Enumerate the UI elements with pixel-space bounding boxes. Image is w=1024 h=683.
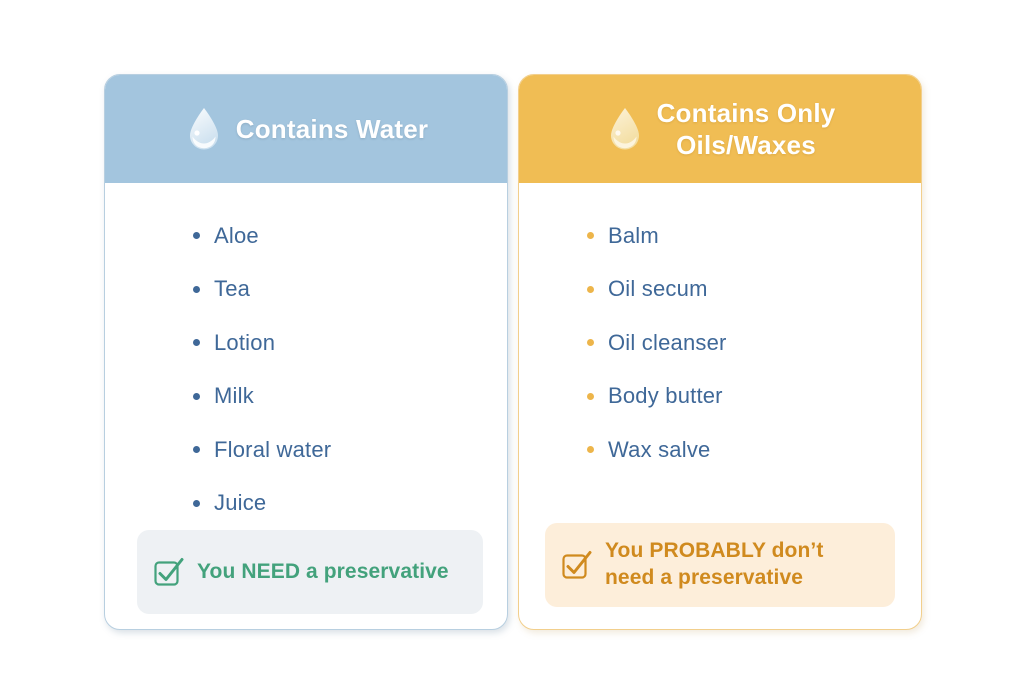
- list-item-label: Tea: [214, 276, 250, 302]
- list-item: Juice: [193, 477, 507, 531]
- card-title-contains-water: Contains Water: [236, 113, 429, 146]
- bullet-icon: [193, 286, 200, 293]
- bullet-icon: [193, 232, 200, 239]
- oil-droplet-icon: [605, 106, 645, 152]
- list-item: Wax salve: [587, 423, 921, 477]
- callout-text: You PROBABLY don’tneed a preservative: [605, 538, 823, 592]
- card-title-contains-only-oils-waxes: Contains OnlyOils/Waxes: [657, 97, 836, 162]
- list-item-label: Wax salve: [608, 437, 710, 463]
- item-list-contains-only-oils-waxes: Balm Oil secum Oil cleanser Body butter …: [519, 209, 921, 523]
- list-item: Tea: [193, 263, 507, 317]
- bullet-icon: [193, 393, 200, 400]
- list-item-label: Oil secum: [608, 276, 708, 302]
- list-item-label: Aloe: [214, 223, 259, 249]
- list-item: Lotion: [193, 316, 507, 370]
- card-title-line-2: Oils/Waxes: [676, 130, 816, 160]
- list-item: Body butter: [587, 370, 921, 424]
- list-item: Aloe: [193, 209, 507, 263]
- list-item: Oil secum: [587, 263, 921, 317]
- bullet-icon: [587, 393, 594, 400]
- checkbox-checked-icon: [561, 549, 593, 581]
- bullet-icon: [587, 446, 594, 453]
- card-contains-water: Contains Water Aloe Tea Lotion Milk: [104, 74, 508, 630]
- water-droplet-icon: [184, 106, 224, 152]
- bullet-icon: [193, 500, 200, 507]
- callout-probably-no-preservative: You PROBABLY don’tneed a preservative: [545, 523, 895, 607]
- list-item-label: Balm: [608, 223, 659, 249]
- card-body-contains-only-oils-waxes: Balm Oil secum Oil cleanser Body butter …: [519, 183, 921, 629]
- card-body-contains-water: Aloe Tea Lotion Milk Floral water: [105, 183, 507, 630]
- bullet-icon: [193, 339, 200, 346]
- callout-text-line-1: You PROBABLY don’t: [605, 539, 823, 562]
- bullet-icon: [587, 339, 594, 346]
- list-item-label: Oil cleanser: [608, 330, 727, 356]
- list-item: Milk: [193, 370, 507, 424]
- comparison-canvas: Contains Water Aloe Tea Lotion Milk: [0, 0, 1024, 683]
- bullet-icon: [193, 446, 200, 453]
- item-list-contains-water: Aloe Tea Lotion Milk Floral water: [105, 209, 507, 530]
- callout-text-line-2: need a preservative: [605, 566, 803, 589]
- callout-need-preservative: You NEED a preservative: [137, 530, 483, 614]
- list-item: Floral water: [193, 423, 507, 477]
- list-item-label: Body butter: [608, 383, 723, 409]
- bullet-icon: [587, 286, 594, 293]
- list-item-label: Juice: [214, 490, 266, 516]
- list-item: Balm: [587, 209, 921, 263]
- card-contains-only-oils-waxes: Contains OnlyOils/Waxes Balm Oil secum O…: [518, 74, 922, 630]
- list-item-label: Milk: [214, 383, 254, 409]
- checkbox-checked-icon: [153, 556, 185, 588]
- card-header-contains-only-oils-waxes: Contains OnlyOils/Waxes: [519, 75, 921, 183]
- list-item-label: Floral water: [214, 437, 331, 463]
- callout-text: You NEED a preservative: [197, 559, 449, 586]
- list-item: Oil cleanser: [587, 316, 921, 370]
- card-title-line-1: Contains Only: [657, 98, 836, 128]
- card-header-contains-water: Contains Water: [105, 75, 507, 183]
- list-item-label: Lotion: [214, 330, 275, 356]
- bullet-icon: [587, 232, 594, 239]
